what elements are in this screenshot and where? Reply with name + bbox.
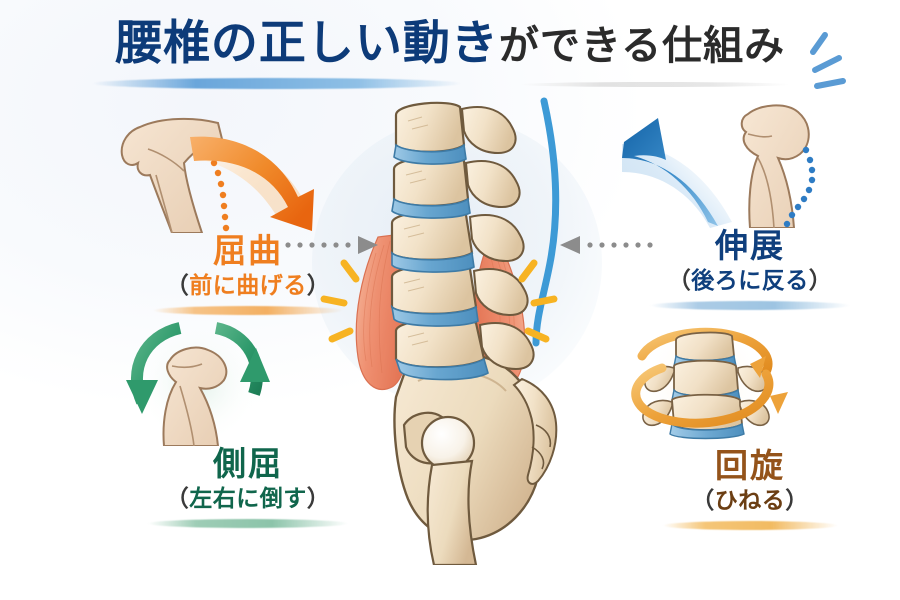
rotation-arrow-head-lower	[770, 392, 788, 414]
paren-open: （	[691, 487, 715, 513]
movement-card-extension[interactable]: 伸展 （後ろに反る）	[600, 100, 900, 310]
lumbar-vertebrae	[392, 103, 534, 369]
flexion-label: 屈曲 （前に曲げる）	[98, 233, 398, 315]
movement-card-lateral-flexion[interactable]: 側屈 （左右に倒す）	[98, 318, 398, 528]
rotation-label-sub-keyword: ひねる	[715, 487, 786, 513]
rotation-label-sub: （ひねる）	[600, 486, 900, 516]
title-underline-plain	[520, 82, 790, 87]
movement-card-rotation[interactable]: 回旋 （ひねる）	[600, 320, 900, 530]
lateral-flexion-label-main: 側屈	[98, 446, 398, 483]
flexion-label-underline	[153, 306, 343, 315]
paren-close: ）	[809, 267, 833, 293]
title-underline-accent	[92, 78, 462, 89]
paren-close: ）	[785, 487, 809, 513]
lateral-flexion-illustration	[98, 318, 398, 446]
sparkle-dashes-icon	[795, 28, 865, 94]
extension-label-sub-keyword: 後ろに反る	[691, 267, 809, 293]
extension-illustration	[600, 100, 900, 228]
extension-label-main: 伸展	[600, 228, 900, 265]
title-accent-part: 腰椎の正しい動き	[115, 16, 499, 69]
flexion-label-sub: （前に曲げる）	[98, 271, 398, 301]
extension-label: 伸展 （後ろに反る）	[600, 228, 900, 310]
lateral-flexion-label: 側屈 （左右に倒す）	[98, 446, 398, 528]
title-text: 腰椎の正しい動きができる仕組み	[115, 18, 785, 68]
title-rest-part: ができる仕組み	[499, 24, 785, 68]
rotation-label-main: 回旋	[600, 448, 900, 485]
paren-open: （	[166, 485, 190, 511]
movement-card-flexion[interactable]: 屈曲 （前に曲げる）	[98, 105, 398, 315]
lateral-flexion-label-sub: （左右に倒す）	[98, 484, 398, 514]
infographic-canvas: 腰椎の正しい動きができる仕組み	[0, 0, 900, 600]
page-title: 腰椎の正しい動きができる仕組み	[0, 18, 900, 68]
rotation-illustration	[600, 320, 900, 448]
extension-label-underline	[650, 301, 850, 310]
back-contour-line	[536, 101, 556, 343]
extension-label-sub: （後ろに反る）	[600, 266, 900, 296]
flexion-label-main: 屈曲	[98, 233, 398, 270]
paren-close: ）	[307, 485, 331, 511]
lateral-flexion-label-underline	[148, 519, 348, 528]
lateral-flexion-label-sub-keyword: 左右に倒す	[189, 485, 307, 511]
flexion-label-sub-keyword: 前に曲げる	[189, 272, 307, 298]
paren-open: （	[166, 272, 190, 298]
femur-shaft	[428, 461, 476, 565]
rotation-label-underline	[663, 521, 838, 530]
person-bending-forward-icon	[122, 119, 222, 233]
paren-open: （	[668, 267, 692, 293]
flexion-illustration	[98, 105, 398, 233]
paren-close: ）	[307, 272, 331, 298]
rotation-label: 回旋 （ひねる）	[600, 448, 900, 530]
